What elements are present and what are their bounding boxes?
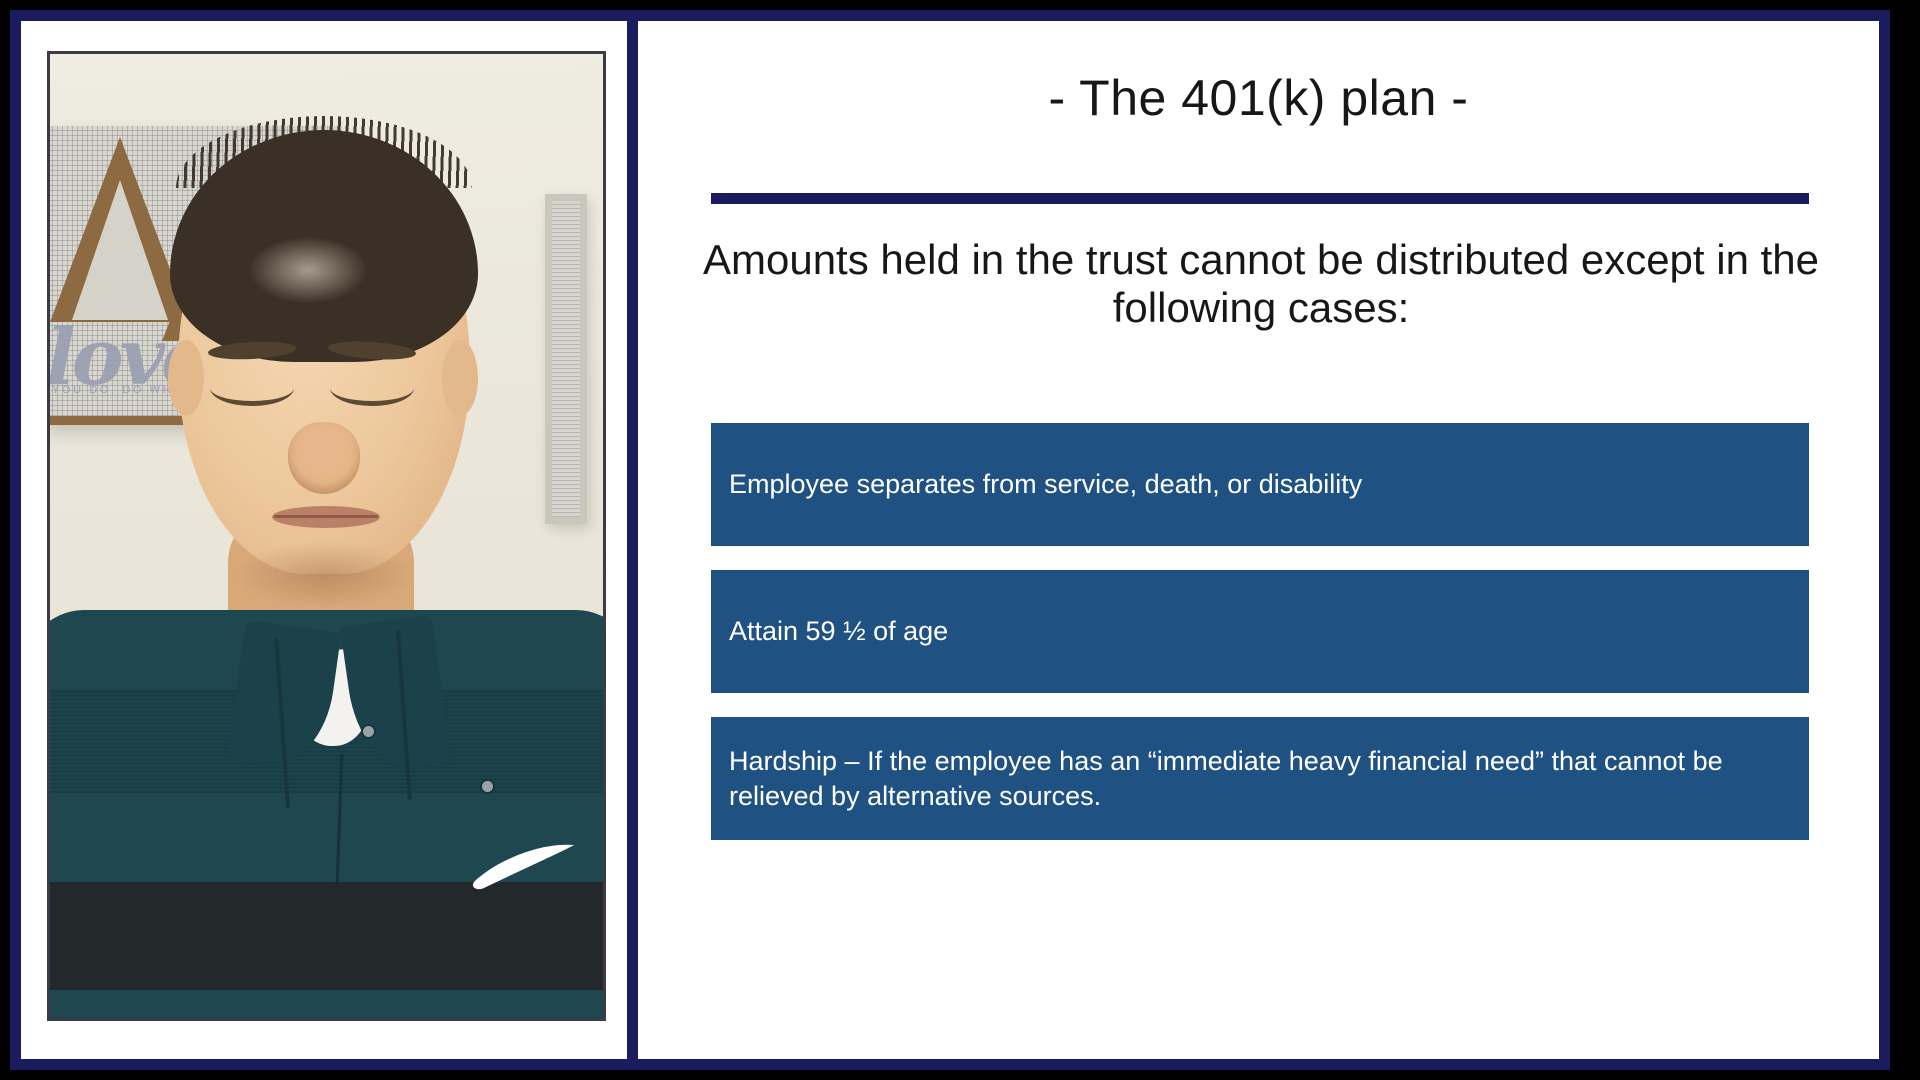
presenter-hair-spikes xyxy=(176,116,472,188)
presenter-chin-shadow xyxy=(236,542,414,608)
slide-title: - The 401(k) plan - xyxy=(638,69,1879,127)
presenter-shirt-placket xyxy=(274,630,412,808)
bullet-bar-separation: Employee separates from service, death, … xyxy=(711,423,1809,546)
bullet-bar-age-text: Attain 59 ½ of age xyxy=(729,614,948,649)
slide-canvas: love YOU DO, DO WHAT YOU LOVE xyxy=(0,0,1920,1080)
presenter-video-pane: love YOU DO, DO WHAT YOU LOVE xyxy=(21,21,627,1059)
pane-divider xyxy=(627,21,638,1059)
slide-frame: love YOU DO, DO WHAT YOU LOVE xyxy=(10,10,1890,1070)
webcam-photo-canvas: love YOU DO, DO WHAT YOU LOVE xyxy=(50,54,603,1018)
presenter-figure xyxy=(50,54,603,1018)
slide-intro-text: Amounts held in the trust cannot be dist… xyxy=(698,236,1824,333)
presenter-mouth-line xyxy=(274,515,378,518)
presenter-ear-left xyxy=(168,340,204,416)
slide-split-layout: love YOU DO, DO WHAT YOU LOVE xyxy=(21,21,1879,1059)
presenter-shirt-snap-lower xyxy=(482,781,493,792)
bullet-bar-list: Employee separates from service, death, … xyxy=(711,423,1809,840)
bullet-bar-hardship-text: Hardship – If the employee has an “immed… xyxy=(729,744,1791,813)
bullet-bar-age: Attain 59 ½ of age xyxy=(711,570,1809,693)
nike-swoosh-icon xyxy=(470,844,580,890)
presenter-ear-right xyxy=(442,340,478,416)
presenter-nose xyxy=(288,422,360,494)
presenter-forehead-highlight xyxy=(248,236,368,304)
presenter-shirt-stripe-dark xyxy=(50,882,603,990)
slide-content-pane: - The 401(k) plan - Amounts held in the … xyxy=(638,21,1879,1059)
title-underline-rule xyxy=(711,193,1809,204)
bullet-bar-hardship: Hardship – If the employee has an “immed… xyxy=(711,717,1809,840)
bullet-bar-separation-text: Employee separates from service, death, … xyxy=(729,467,1362,502)
webcam-photo: love YOU DO, DO WHAT YOU LOVE xyxy=(47,51,606,1021)
presenter-shirt-snap-upper xyxy=(363,726,374,737)
